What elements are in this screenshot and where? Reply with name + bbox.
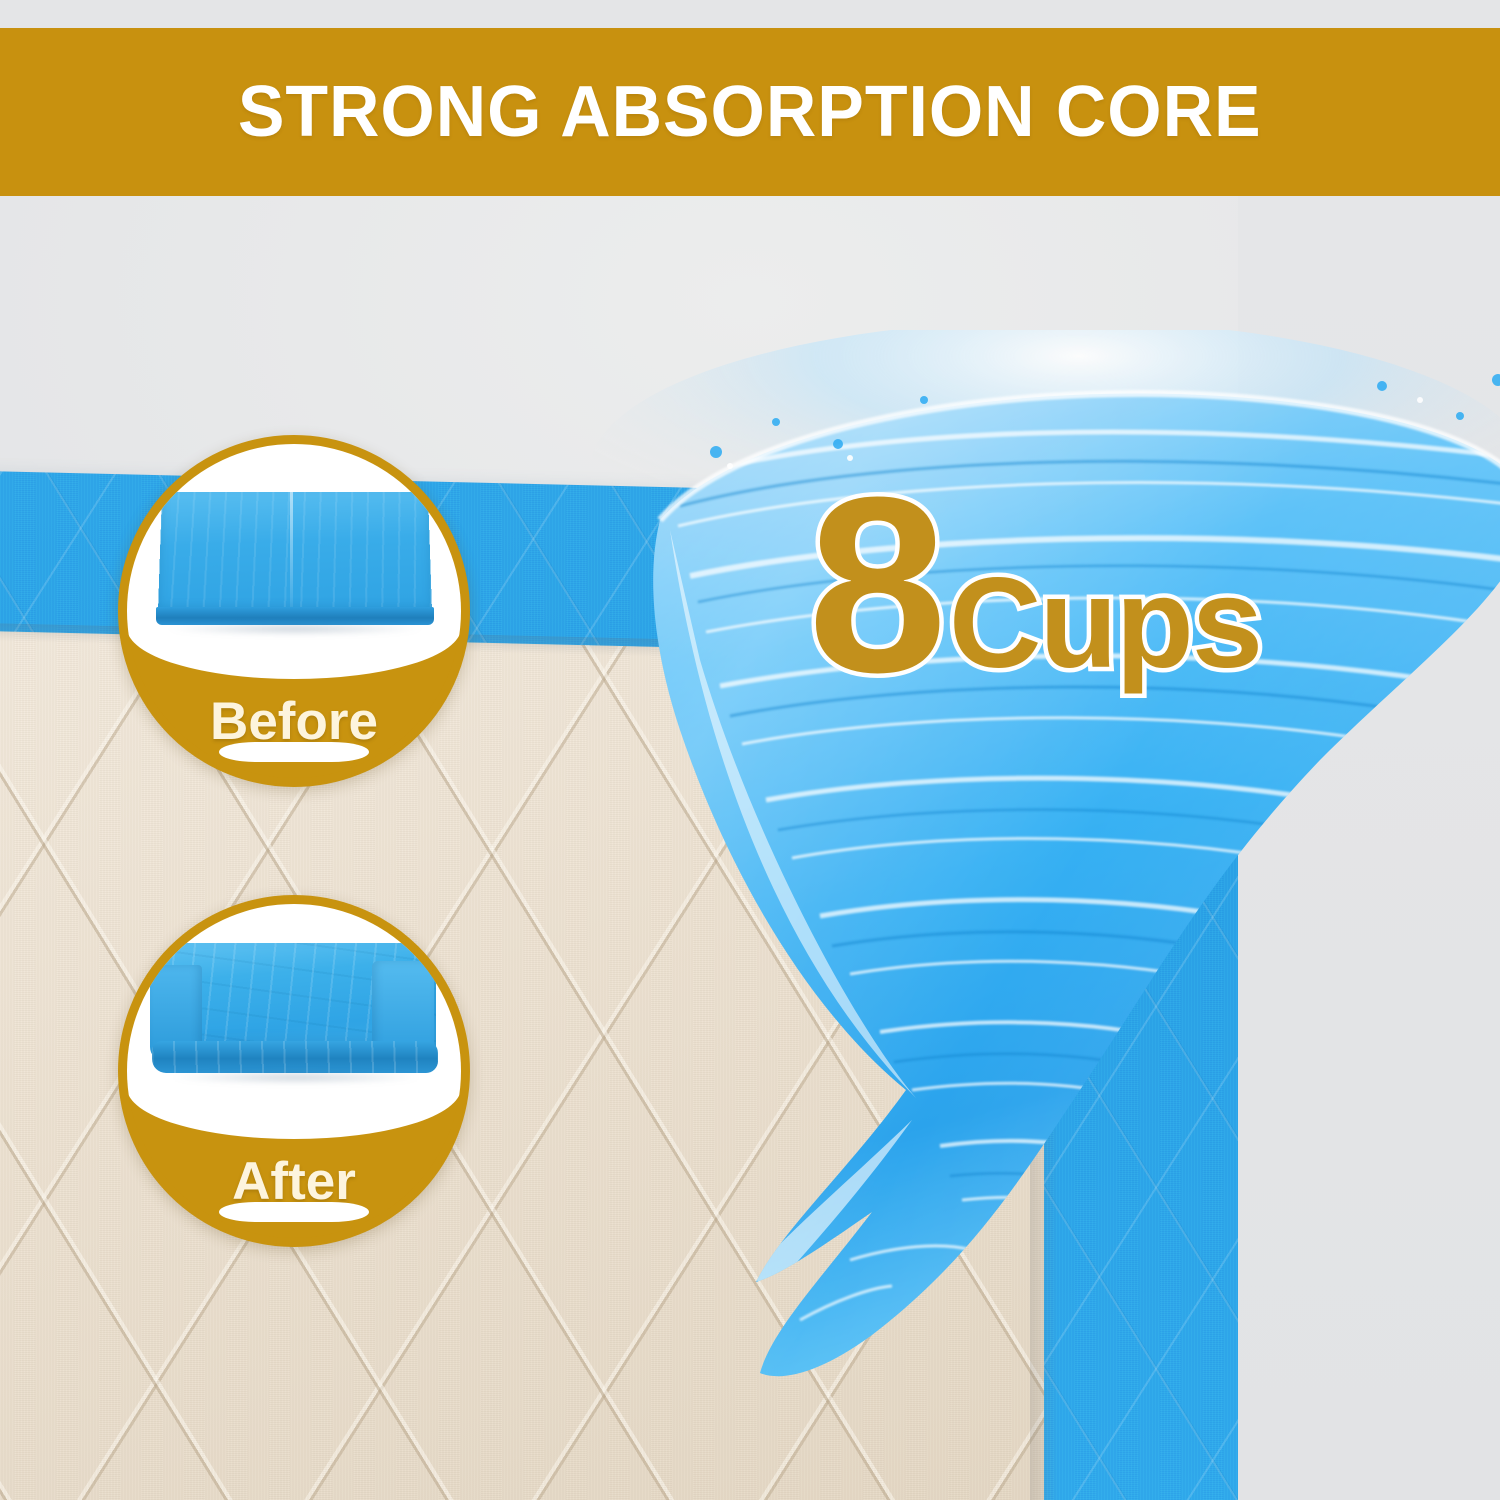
- header-banner: STRONG ABSORPTION CORE: [0, 28, 1500, 196]
- header-top-gap: [0, 0, 1500, 28]
- capacity-unit: Cups: [949, 568, 1261, 695]
- pad-seam-right: [1030, 630, 1058, 1500]
- badge-after-photo: [127, 904, 461, 1139]
- pad-bulk-shadow: [170, 1071, 422, 1084]
- pad-drop-shadow: [166, 623, 424, 635]
- folded-pad-bulky-icon: [144, 937, 444, 1107]
- folded-pad-flat-icon: [144, 477, 444, 647]
- badge-before-label: Before: [210, 695, 378, 748]
- badge-after-label-zone: After: [127, 1139, 461, 1238]
- badge-after-underline-arc: [219, 1202, 369, 1222]
- pad-sheet-top: [158, 492, 432, 613]
- pad-crease: [290, 491, 293, 613]
- absorption-capacity-callout: 8 Cups: [808, 480, 1238, 695]
- badge-before-label-zone: Before: [127, 679, 461, 778]
- badge-after-label: After: [232, 1155, 356, 1208]
- right-background-column: [1238, 196, 1500, 1500]
- badge-after[interactable]: After: [118, 895, 470, 1247]
- badge-before-photo: [127, 444, 461, 679]
- badge-before-underline-arc: [219, 742, 369, 762]
- badge-before[interactable]: Before: [118, 435, 470, 787]
- pad-bulk-base: [152, 1041, 438, 1073]
- page-title: STRONG ABSORPTION CORE: [238, 76, 1262, 148]
- product-feature-image: 8 Cups STRONG ABSORPTION CORE Before: [0, 0, 1500, 1500]
- capacity-number: 8: [808, 475, 943, 695]
